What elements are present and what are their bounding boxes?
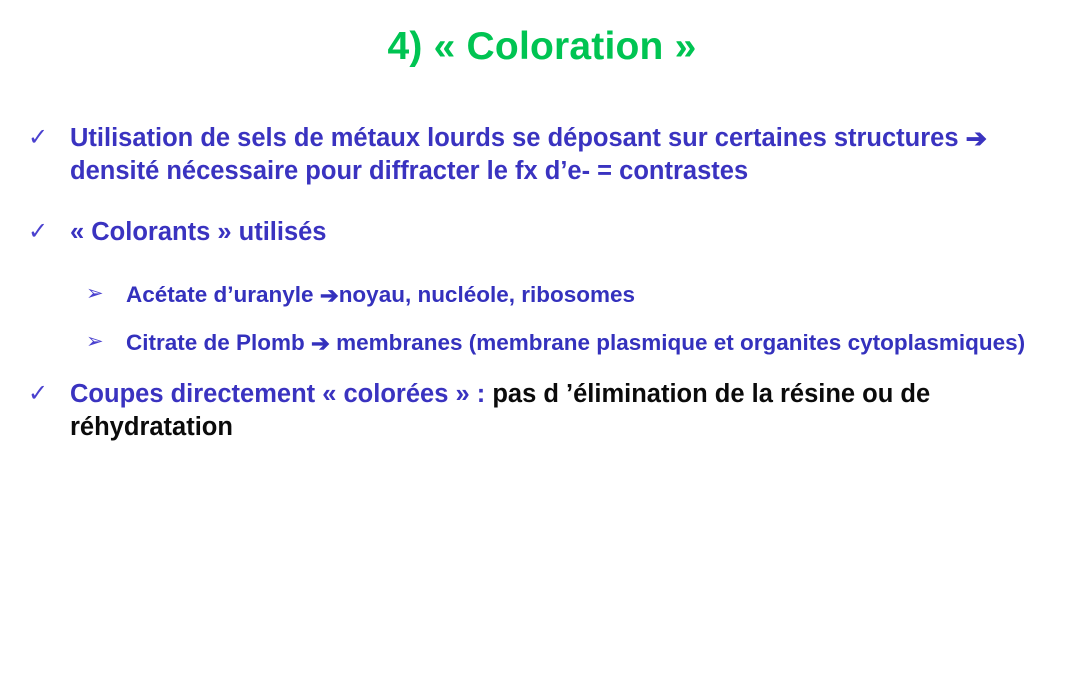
sub-bullet-text-part: membranes (membrane plasmique et organit… (330, 330, 1025, 355)
sub-bullet-text-part: Acétate d’uranyle (126, 282, 320, 307)
slide-body: ✓ Utilisation de sels de métaux lourds s… (24, 122, 1060, 466)
sub-bullet-item-acetate-uranyle: ➢ Acétate d’uranyle ➔noyau, nucléole, ri… (86, 281, 1060, 310)
arrowhead-icon: ➢ (86, 329, 104, 356)
check-icon: ✓ (28, 123, 48, 154)
bullet-text-highlight: Coupes directement « colorées » : (70, 380, 485, 408)
bullet-text-part: densité nécessaire pour diffracter le fx… (70, 157, 748, 185)
bullet-item-coupes-directement: ✓ Coupes directement « colorées » : pas … (24, 378, 1060, 444)
arrowhead-icon: ➢ (86, 281, 104, 308)
sub-bullet-group: ➢ Acétate d’uranyle ➔noyau, nucléole, ri… (24, 281, 1060, 359)
right-arrow-icon: ➔ (966, 123, 987, 156)
sub-bullet-text: Acétate d’uranyle ➔noyau, nucléole, ribo… (126, 282, 635, 307)
sub-bullet-text-part: Citrate de Plomb (126, 330, 311, 355)
sub-bullet-item-citrate-plomb: ➢ Citrate de Plomb ➔ membranes (membrane… (86, 329, 1060, 358)
bullet-text: Utilisation de sels de métaux lourds se … (70, 124, 987, 185)
slide: 4) « Coloration » ✓ Utilisation de sels … (0, 0, 1084, 688)
bullet-text: « Colorants » utilisés (70, 218, 327, 246)
bullet-text: Coupes directement « colorées » : pas d … (70, 380, 930, 441)
bullet-item-utilisation: ✓ Utilisation de sels de métaux lourds s… (24, 122, 1060, 188)
check-icon: ✓ (28, 379, 48, 410)
check-icon: ✓ (28, 217, 48, 248)
sub-bullet-text: Citrate de Plomb ➔ membranes (membrane p… (126, 330, 1025, 355)
sub-bullet-text-part: noyau, nucléole, ribosomes (339, 282, 635, 307)
right-arrow-icon: ➔ (311, 330, 330, 359)
right-arrow-icon: ➔ (320, 282, 339, 311)
page-title: 4) « Coloration » (0, 26, 1084, 69)
bullet-item-colorants: ✓ « Colorants » utilisés (24, 216, 1060, 249)
bullet-text-part: Utilisation de sels de métaux lourds se … (70, 124, 966, 152)
